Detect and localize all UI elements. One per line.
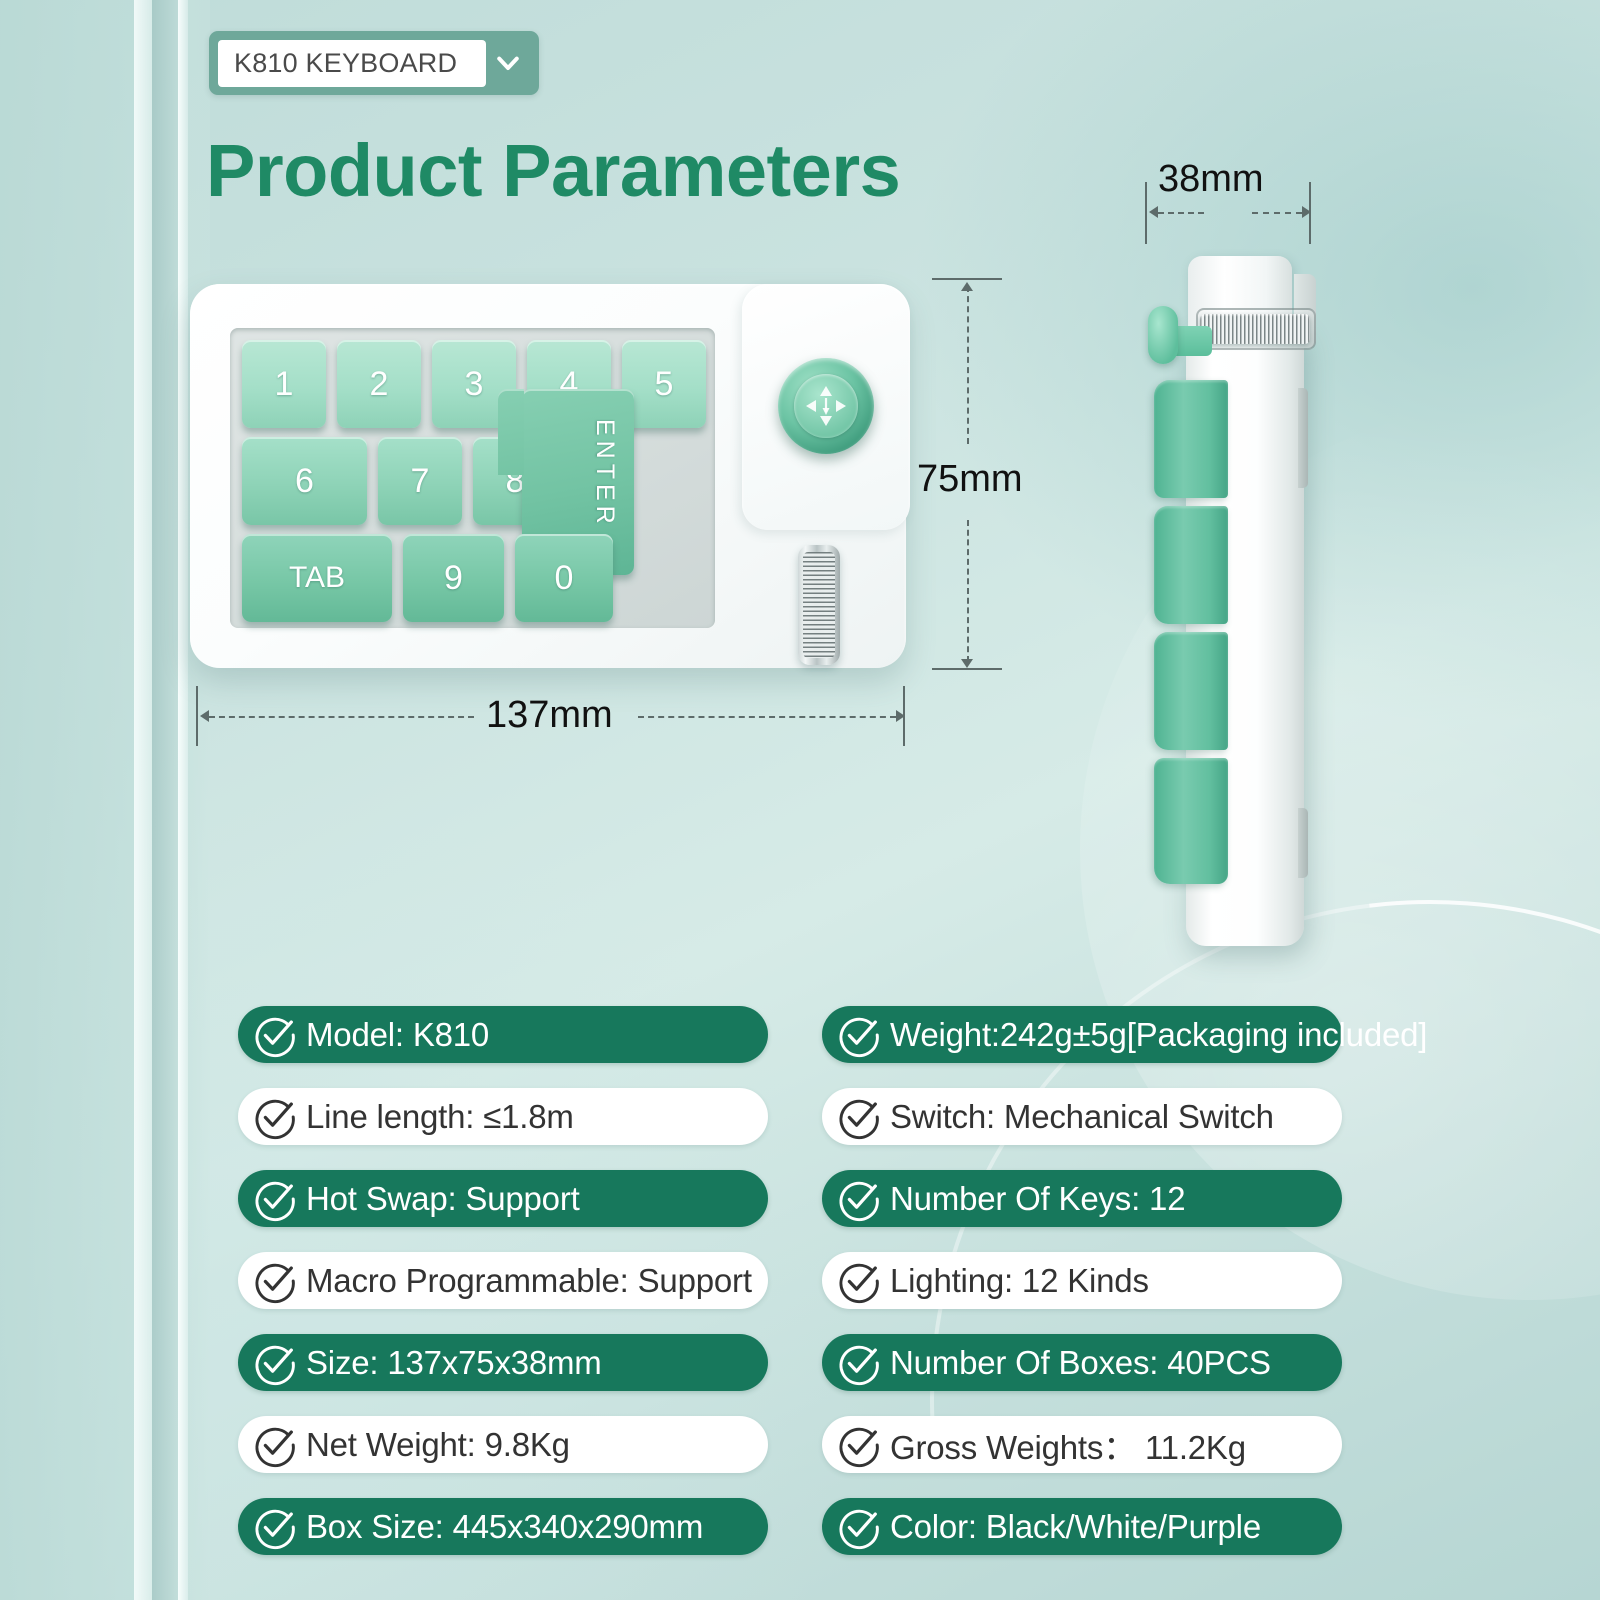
spec-row-label: Macro Programmable: Support: [306, 1262, 752, 1300]
spec-row-label: Weight:242g±5g[Packaging included]: [890, 1016, 1427, 1054]
check-circle-icon: [836, 1176, 882, 1222]
spec-row-label: Size: 137x75x38mm: [306, 1344, 602, 1382]
dim-38mm-label: 38mm: [1158, 158, 1264, 201]
spec-row: Lighting: 12 Kinds: [822, 1252, 1342, 1309]
check-circle-icon: [252, 1422, 298, 1468]
keycap-label: 5: [655, 365, 674, 404]
keycap-label: 1: [275, 365, 294, 404]
product-selector-value-box[interactable]: K810 KEYBOARD: [218, 40, 486, 87]
side-keycap: [1154, 758, 1228, 884]
background-glass-pane-1: [0, 0, 136, 1600]
dim-38mm-line-right: [1252, 212, 1302, 214]
check-circle-icon: [252, 1340, 298, 1386]
check-circle-icon: [836, 1258, 882, 1304]
knurled-ring-icon[interactable]: [1200, 314, 1310, 344]
keycap-label: 6: [295, 462, 314, 501]
check-circle-icon: [252, 1176, 298, 1222]
dim-75mm-line-lower: [967, 520, 969, 662]
check-circle-icon: [252, 1504, 298, 1550]
keycap-7[interactable]: 7: [378, 437, 462, 525]
spec-row-label: Switch: Mechanical Switch: [890, 1098, 1274, 1136]
spec-row-label: Gross Weights： 11.2Kg: [890, 1421, 1246, 1469]
side-keycap: [1154, 506, 1228, 624]
dim-137mm-line-right: [638, 716, 896, 718]
dim-137mm-line-left: [209, 716, 474, 718]
check-circle-icon: [252, 1012, 298, 1058]
spec-row-label: Color: Black/White/Purple: [890, 1508, 1261, 1546]
check-circle-icon: [252, 1258, 298, 1304]
spec-row: Number Of Boxes: 40PCS: [822, 1334, 1342, 1391]
joystick-cap[interactable]: [794, 374, 858, 438]
keycap-label: ENTER: [592, 419, 618, 529]
dim-137mm-left-cap: [196, 686, 198, 746]
keycap-0[interactable]: 0: [515, 534, 613, 622]
dim-38mm-left-cap: [1145, 182, 1147, 244]
keycap-2[interactable]: 2: [337, 340, 421, 428]
keycap-label: 7: [411, 462, 430, 501]
check-circle-icon: [836, 1012, 882, 1058]
dim-75mm-label: 75mm: [917, 458, 1023, 501]
spec-row: Number Of Keys: 12: [822, 1170, 1342, 1227]
check-circle-icon: [252, 1094, 298, 1140]
spec-row: Gross Weights： 11.2Kg: [822, 1416, 1342, 1473]
dim-137mm-arrow-left: [200, 710, 209, 722]
spec-row-label: Box Size: 445x340x290mm: [306, 1508, 703, 1546]
spec-row-label: Model: K810: [306, 1016, 489, 1054]
keycap-tab[interactable]: TAB: [242, 534, 392, 622]
product-selector-dropdown[interactable]: K810 KEYBOARD: [209, 31, 539, 95]
check-circle-icon: [252, 1012, 298, 1058]
dim-75mm-line-upper: [967, 286, 969, 444]
knurled-rotary-knob-icon[interactable]: [798, 545, 840, 665]
background-glass-pane-2: [134, 0, 152, 1600]
spec-row-label: Hot Swap: Support: [306, 1180, 580, 1218]
dim-75mm-arrow-down: [961, 659, 973, 668]
side-keycap: [1154, 380, 1228, 498]
spec-row: Box Size: 445x340x290mm: [238, 1498, 768, 1555]
spec-list-left: Model: K810Line length: ≤1.8mHot Swap: S…: [238, 1006, 768, 1580]
check-circle-icon: [836, 1504, 882, 1550]
dim-38mm-right-cap: [1309, 182, 1311, 244]
spec-row: Weight:242g±5g[Packaging included]: [822, 1006, 1342, 1063]
knob-knurling: [803, 552, 835, 658]
check-circle-icon: [836, 1094, 882, 1140]
check-circle-icon: [252, 1504, 298, 1550]
check-circle-icon: [836, 1422, 882, 1468]
keycap-label: 3: [465, 365, 484, 404]
dpad-joystick-icon[interactable]: [778, 358, 874, 454]
keycap-label: 2: [370, 365, 389, 404]
check-circle-icon: [252, 1176, 298, 1222]
spec-row: Model: K810: [238, 1006, 768, 1063]
dim-75mm-top-cap: [932, 278, 1002, 280]
check-circle-icon: [836, 1258, 882, 1304]
joystick-arrows-icon: [794, 374, 858, 438]
dim-38mm-line-left: [1158, 212, 1204, 214]
keycap-1[interactable]: 1: [242, 340, 326, 428]
keycap-9[interactable]: 9: [403, 534, 504, 622]
spec-row: Macro Programmable: Support: [238, 1252, 768, 1309]
background-glass-pane-4: [178, 0, 188, 1600]
check-circle-icon: [836, 1340, 882, 1386]
side-view-keycap-stack: [1154, 380, 1228, 888]
dim-75mm-bottom-cap: [932, 668, 1002, 670]
check-circle-icon: [836, 1012, 882, 1058]
check-circle-icon: [836, 1422, 882, 1468]
spec-row: Switch: Mechanical Switch: [822, 1088, 1342, 1145]
product-parameters-page: K810 KEYBOARD Product Parameters 1 2 3 4…: [0, 0, 1600, 1600]
keycap-label: 9: [444, 559, 463, 598]
keycap-label: 0: [555, 559, 574, 598]
spec-row-label: Lighting: 12 Kinds: [890, 1262, 1149, 1300]
dim-137mm-label: 137mm: [486, 694, 613, 737]
spec-row: Net Weight: 9.8Kg: [238, 1416, 768, 1473]
green-toggle-knob-icon[interactable]: [1148, 306, 1178, 364]
background-glass-pane-3: [152, 0, 178, 1600]
keycap-label: TAB: [289, 561, 345, 595]
keyboard-side-view: [1108, 248, 1358, 960]
spec-list-right: Weight:242g±5g[Packaging included]Switch…: [822, 1006, 1342, 1580]
spec-row-label: Number Of Boxes: 40PCS: [890, 1344, 1271, 1382]
side-view-port-lower: [1298, 808, 1308, 878]
check-circle-icon: [252, 1094, 298, 1140]
spec-row-label: Net Weight: 9.8Kg: [306, 1426, 570, 1464]
chevron-down-icon[interactable]: [486, 48, 530, 78]
page-title: Product Parameters: [206, 128, 900, 213]
spec-row: Color: Black/White/Purple: [822, 1498, 1342, 1555]
spec-row-label: Line length: ≤1.8m: [306, 1098, 574, 1136]
check-circle-icon: [836, 1094, 882, 1140]
product-selector-label: K810 KEYBOARD: [234, 48, 457, 79]
check-circle-icon: [836, 1504, 882, 1550]
spec-row: Line length: ≤1.8m: [238, 1088, 768, 1145]
keycap-5[interactable]: 5: [622, 340, 706, 428]
check-circle-icon: [836, 1176, 882, 1222]
keycap-6[interactable]: 6: [242, 437, 367, 525]
spec-row: Size: 137x75x38mm: [238, 1334, 768, 1391]
side-view-port-upper: [1298, 388, 1308, 488]
check-circle-icon: [252, 1422, 298, 1468]
check-circle-icon: [252, 1258, 298, 1304]
background-glass-pane-5: [188, 0, 210, 1600]
check-circle-icon: [836, 1340, 882, 1386]
dim-38mm-arrow-left: [1149, 206, 1158, 218]
spec-row-label: Number Of Keys: 12: [890, 1180, 1185, 1218]
spec-row: Hot Swap: Support: [238, 1170, 768, 1227]
side-keycap: [1154, 632, 1228, 750]
dim-137mm-right-cap: [903, 686, 905, 746]
check-circle-icon: [252, 1340, 298, 1386]
